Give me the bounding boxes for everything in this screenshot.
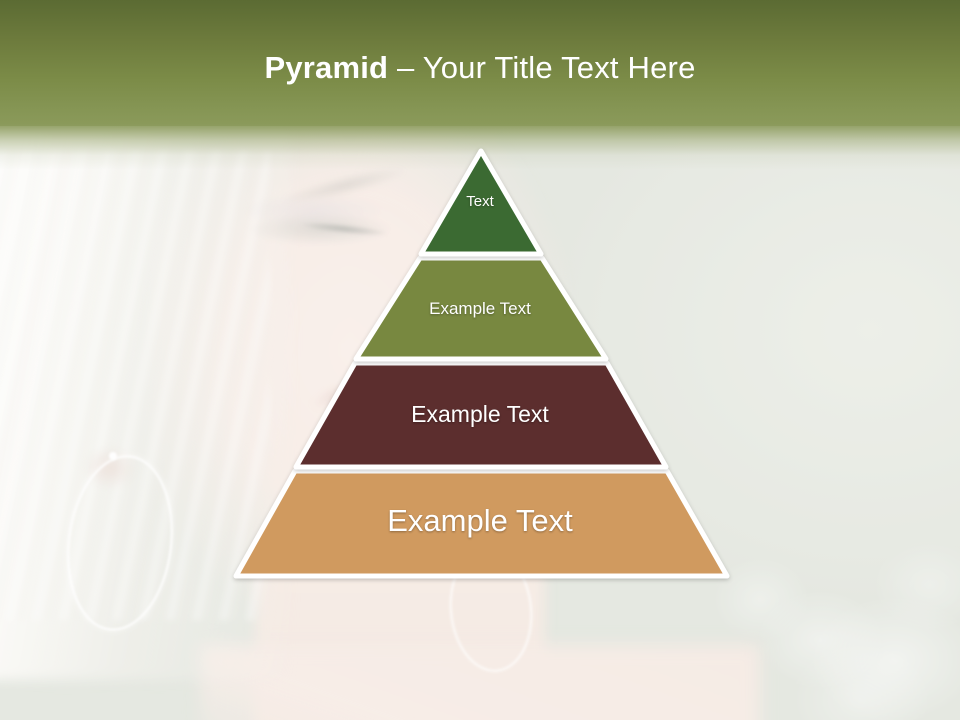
header-fade xyxy=(0,124,960,170)
pyramid-tier-4-label[interactable]: Example Text xyxy=(0,500,960,542)
pyramid-tier-2-label[interactable]: Example Text xyxy=(0,298,960,320)
pyramid-tier-3-label[interactable]: Example Text xyxy=(0,399,960,429)
slide-canvas: Pyramid – Your Title Text Here Text Exam… xyxy=(0,0,960,720)
pyramid-tier-1-label[interactable]: Text xyxy=(0,192,960,212)
page-title: Pyramid – Your Title Text Here xyxy=(0,48,960,88)
title-rest-part: – Your Title Text Here xyxy=(388,50,695,85)
title-bold-part: Pyramid xyxy=(264,50,388,85)
